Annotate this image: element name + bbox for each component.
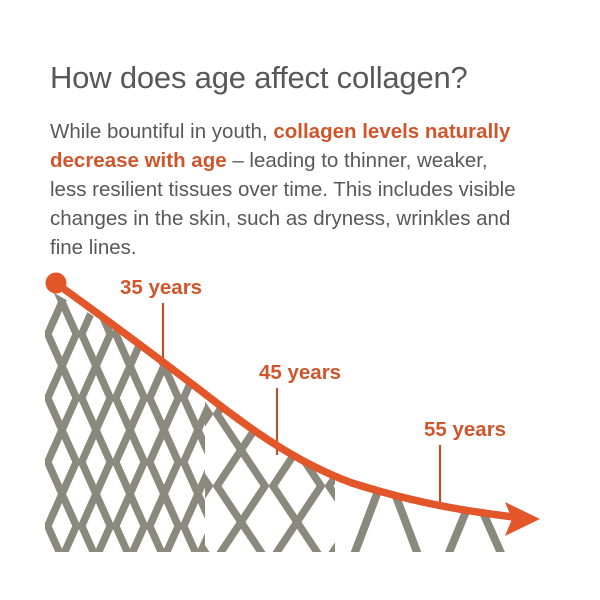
annotation-label-35-years: 35 years — [120, 276, 202, 300]
fibre-mesh-dense — [40, 260, 210, 560]
collagen-decline-chart — [0, 0, 600, 600]
infographic-canvas: How does age affect collagen? While boun… — [0, 0, 600, 600]
collagen-fibre-mesh — [40, 260, 504, 560]
curve-start-dot-icon — [46, 273, 67, 294]
annotation-label-55-years: 55 years — [424, 418, 506, 442]
annotation-label-45-years: 45 years — [259, 361, 341, 385]
